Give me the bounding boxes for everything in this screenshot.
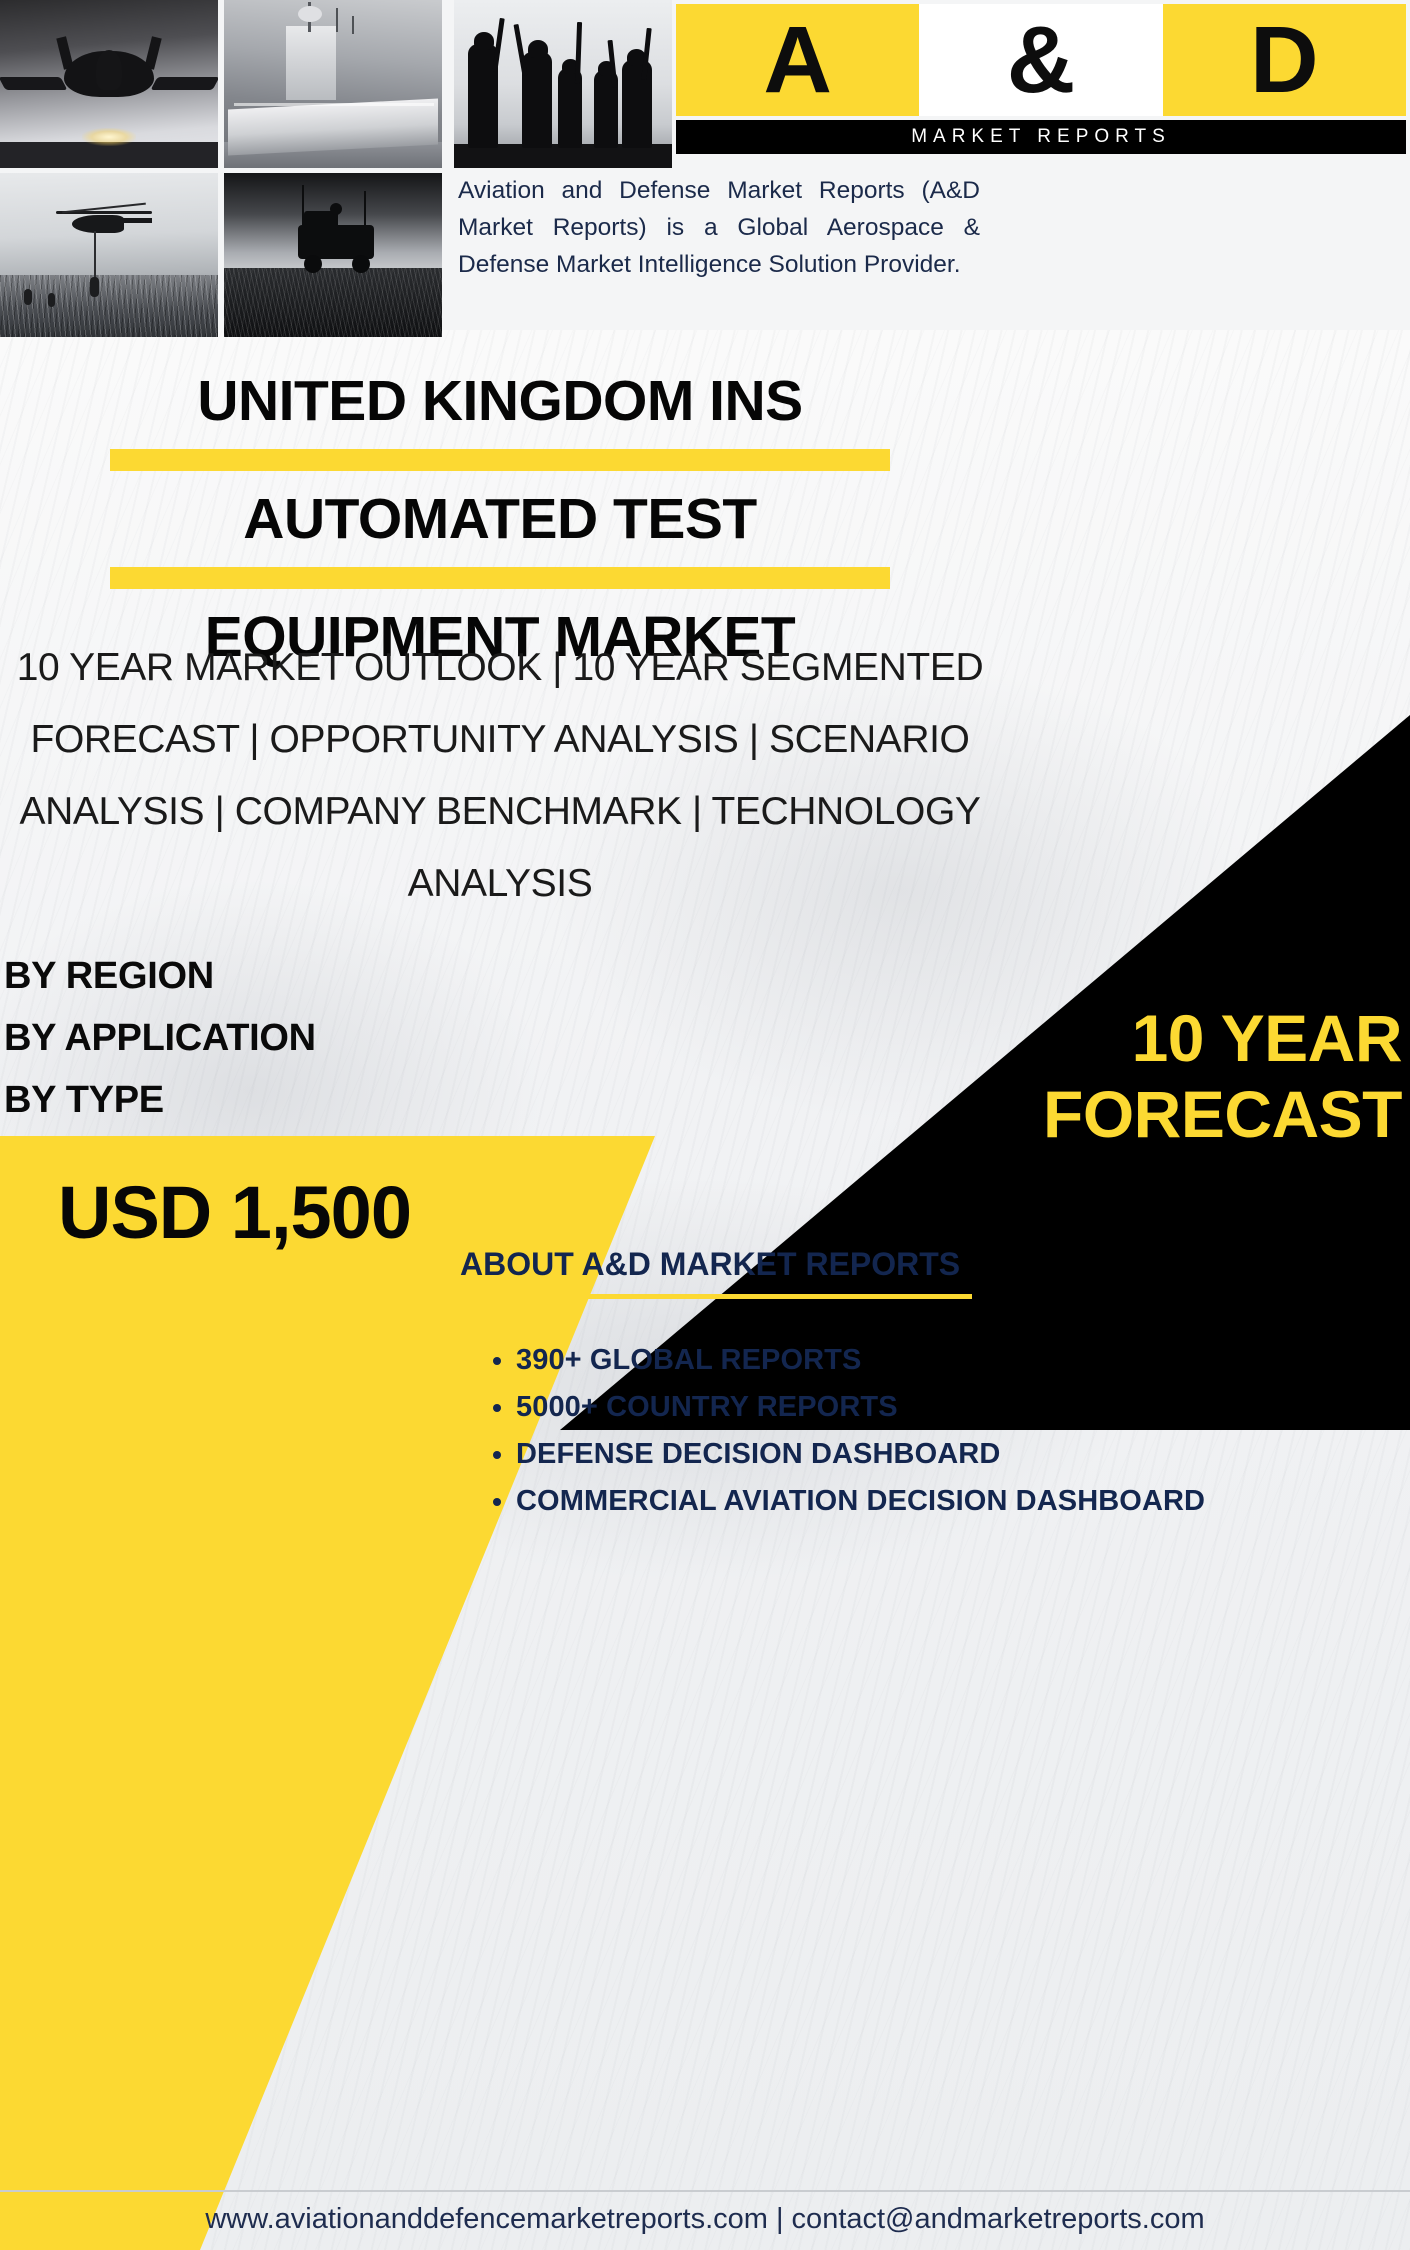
about-bullet-defense-dashboard: DEFENSE DECISION DASHBOARD xyxy=(516,1435,1390,1473)
forecast-badge-line-2: FORECAST xyxy=(882,1076,1402,1152)
about-bullet-country-reports: 5000+ COUNTRY REPORTS xyxy=(516,1388,1390,1426)
company-intro-paragraph: Aviation and Defense Market Reports (A&D… xyxy=(458,172,980,283)
poster-root: A & D MARKET REPORTS Aviation and Defens… xyxy=(0,0,1410,2250)
aircraft-carrier-photo xyxy=(224,0,442,168)
about-bullet-list: 390+ GLOBAL REPORTS 5000+ COUNTRY REPORT… xyxy=(516,1341,1390,1520)
fighter-jet-photo xyxy=(0,0,218,168)
segmentation-list: BY REGION BY APPLICATION BY TYPE xyxy=(4,945,316,1131)
about-heading: ABOUT A&D MARKET REPORTS xyxy=(460,1246,1390,1283)
header-photo-strip: A & D MARKET REPORTS Aviation and Defens… xyxy=(0,0,1410,337)
report-title-block: UNITED KINGDOM INS AUTOMATED TEST EQUIPM… xyxy=(0,370,1000,668)
armored-vehicle-photo xyxy=(224,173,442,337)
soldiers-silhouette-photo xyxy=(454,0,672,168)
title-divider-2 xyxy=(110,567,890,589)
segment-item-type: BY TYPE xyxy=(4,1069,316,1131)
brand-logo: A & D MARKET REPORTS xyxy=(676,4,1406,154)
logo-letter-a: A xyxy=(676,4,919,116)
forecast-badge-line-1: 10 YEAR xyxy=(882,1000,1402,1076)
segment-item-application: BY APPLICATION xyxy=(4,1007,316,1069)
logo-letter-ampersand: & xyxy=(919,4,1162,116)
report-subtitle: 10 YEAR MARKET OUTLOOK | 10 YEAR SEGMENT… xyxy=(0,632,1000,920)
price-value: USD 1,500 xyxy=(58,1172,411,1254)
logo-tagline-bar: MARKET REPORTS xyxy=(676,120,1406,154)
helicopter-rappel-photo xyxy=(0,173,218,337)
title-divider-1 xyxy=(110,449,890,471)
title-line-1: UNITED KINGDOM INS xyxy=(0,370,1000,432)
about-bullet-global-reports: 390+ GLOBAL REPORTS xyxy=(516,1341,1390,1379)
logo-letter-d: D xyxy=(1163,4,1406,116)
logo-tagline: MARKET REPORTS xyxy=(911,126,1171,148)
segment-item-region: BY REGION xyxy=(4,945,316,1007)
about-panel: ABOUT A&D MARKET REPORTS 390+ GLOBAL REP… xyxy=(460,1246,1390,1529)
title-line-2: AUTOMATED TEST xyxy=(0,488,1000,550)
footer-contact: www.aviationanddefencemarketreports.com … xyxy=(0,2196,1410,2242)
forecast-badge: 10 YEAR FORECAST xyxy=(882,1000,1402,1152)
about-heading-underline xyxy=(460,1294,972,1299)
footer-divider xyxy=(0,2190,1410,2192)
about-bullet-commercial-dashboard: COMMERCIAL AVIATION DECISION DASHBOARD xyxy=(516,1482,1390,1520)
